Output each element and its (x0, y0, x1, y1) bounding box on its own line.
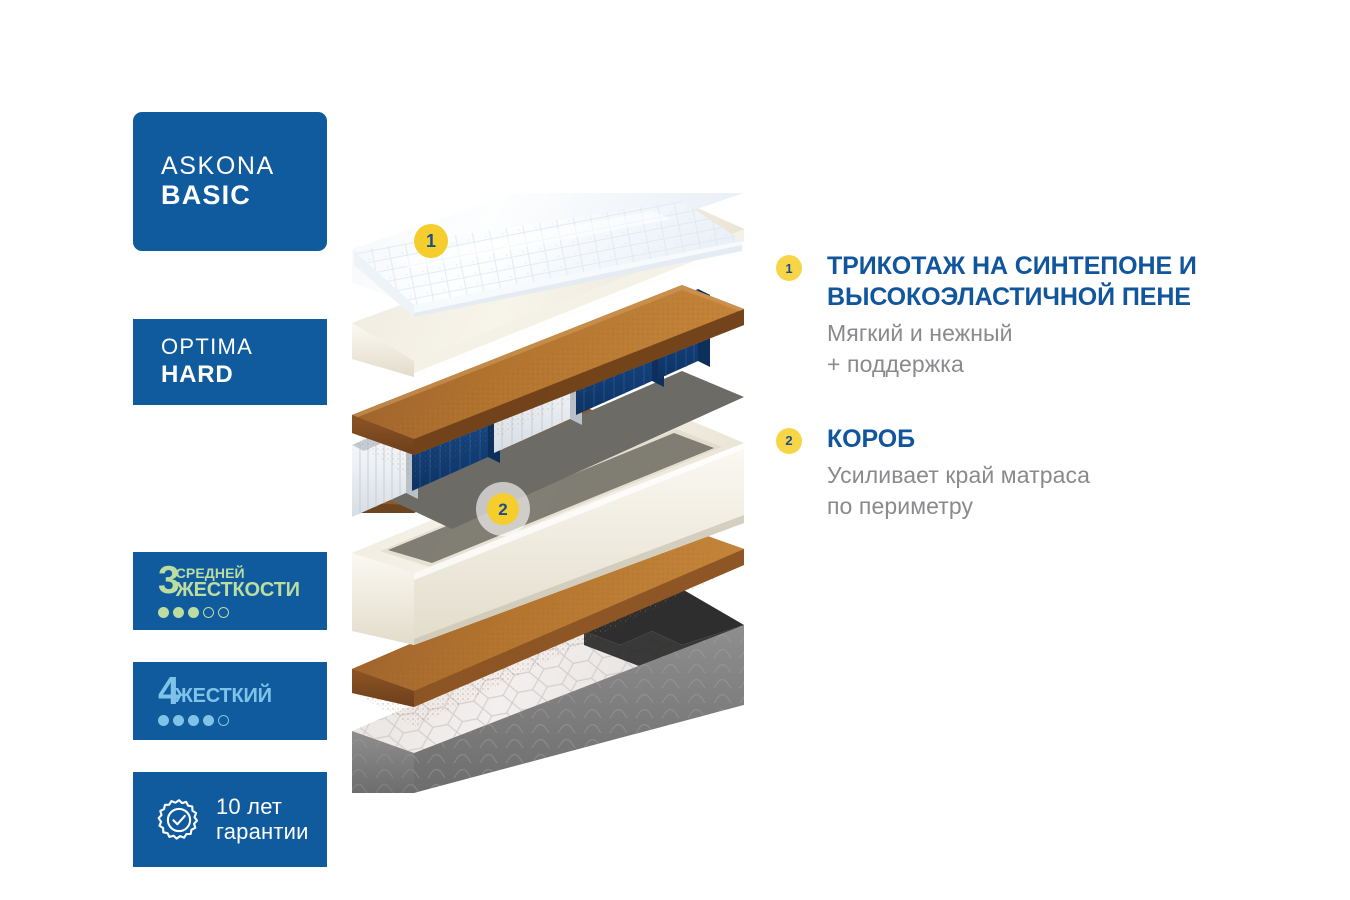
feature-desc-line: Мягкий и нежный (827, 318, 1246, 349)
firmness-words: СРЕДНЕЙ ЖЕСТКОСТИ (176, 565, 300, 600)
scale-dot-filled (158, 715, 169, 726)
scale-dot-filled (173, 607, 184, 618)
firmness-badge-medium: 3 СРЕДНЕЙ ЖЕСТКОСТИ (133, 552, 327, 630)
brand-name: ASKONA (161, 152, 327, 181)
firmness-label-row: 3 СРЕДНЕЙ ЖЕСТКОСТИ (158, 565, 327, 600)
feature-description: Усиливает край матраса по периметру (827, 460, 1246, 523)
firmness-word-bottom: ЖЕСТКИЙ (175, 686, 272, 708)
firmness-label-row: 4 ЖЕСТКИЙ (158, 676, 327, 708)
scale-dot-empty (218, 715, 229, 726)
brand-collection: BASIC (161, 180, 327, 211)
scale-dot-filled (188, 715, 199, 726)
firmness-scale-dots (158, 715, 327, 726)
feature-desc-line: + поддержка (827, 349, 1246, 380)
feature-list: 1 ТРИКОТАЖ НА СИНТЕПОНЕ И ВЫСОКОЭЛАСТИЧН… (776, 251, 1246, 522)
guarantee-seal-check-icon (155, 796, 203, 844)
feature-body: ТРИКОТАЖ НА СИНТЕПОНЕ И ВЫСОКОЭЛАСТИЧНОЙ… (776, 251, 1246, 381)
feature-marker-2: 2 (776, 428, 802, 454)
feature-desc-line: по периметру (827, 491, 1246, 522)
model-variant: HARD (161, 361, 327, 390)
feature-item-2: 2 КОРОБ Усиливает край матраса по периме… (776, 424, 1246, 523)
warranty-badge: 10 лет гарантии (133, 772, 327, 867)
feature-desc-line: Усиливает край матраса (827, 460, 1246, 491)
product-badge-sidebar: ASKONA BASIC OPTIMA HARD 3 СРЕДНЕЙ ЖЕСТК… (133, 112, 327, 251)
illustration-marker-2: 2 (487, 493, 519, 525)
feature-title: ТРИКОТАЖ НА СИНТЕПОНЕ И ВЫСОКОЭЛАСТИЧНОЙ… (827, 251, 1246, 313)
model-name: OPTIMA (161, 334, 327, 360)
brand-badge: ASKONA BASIC (133, 112, 327, 251)
warranty-term: 10 лет (216, 795, 309, 820)
mattress-cutaway-diagram (352, 193, 744, 793)
firmness-word-top: СРЕДНЕЙ (176, 566, 300, 580)
model-badge: OPTIMA HARD (133, 319, 327, 405)
feature-marker-1: 1 (776, 255, 802, 281)
feature-body: КОРОБ Усиливает край матраса по периметр… (776, 424, 1246, 523)
feature-title: КОРОБ (827, 424, 1246, 455)
feature-item-1: 1 ТРИКОТАЖ НА СИНТЕПОНЕ И ВЫСОКОЭЛАСТИЧН… (776, 251, 1246, 381)
scale-dot-empty (203, 607, 214, 618)
scale-dot-filled (188, 607, 199, 618)
firmness-word-bottom: ЖЕСТКОСТИ (176, 580, 300, 600)
warranty-word: гарантии (216, 820, 309, 845)
warranty-text: 10 лет гарантии (216, 795, 309, 844)
feature-description: Мягкий и нежный + поддержка (827, 318, 1246, 381)
scale-dot-empty (218, 607, 229, 618)
scale-dot-filled (203, 715, 214, 726)
illustration-marker-1: 1 (414, 224, 448, 258)
firmness-scale-dots (158, 607, 327, 618)
scale-dot-filled (158, 607, 169, 618)
scale-dot-filled (173, 715, 184, 726)
firmness-badge-hard: 4 ЖЕСТКИЙ (133, 662, 327, 740)
